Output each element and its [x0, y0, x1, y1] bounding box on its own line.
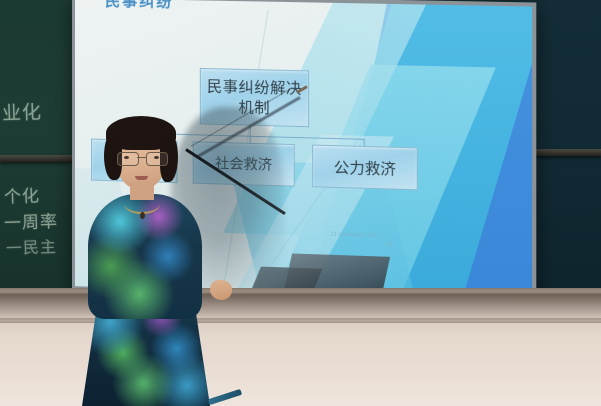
- glasses-bridge: [137, 157, 146, 158]
- pointer-handle: [208, 389, 242, 405]
- connector-drop-3: [364, 139, 365, 146]
- presenter-mouth: [135, 176, 148, 180]
- slide-date: 21 septembre 2017: [325, 231, 387, 241]
- classroom-scene: 业化 个化 一周率 一民主 民事纠纷 民事纠纷解决机制 私力救济 社会救济: [0, 0, 601, 406]
- necklace-pendant: [140, 212, 145, 219]
- org-node-child-3: 公力救济: [312, 145, 418, 191]
- glasses-lens-right: [146, 152, 168, 166]
- presenter-hand: [208, 278, 234, 302]
- necklace: [124, 194, 160, 214]
- slide-title: 民事纠纷: [105, 0, 173, 12]
- glasses-lens-left: [117, 152, 139, 166]
- glasses-icon: [116, 152, 167, 164]
- presenter: [60, 118, 250, 406]
- presenter-skirt: [82, 304, 210, 406]
- slide-page-number: 20: [386, 242, 394, 248]
